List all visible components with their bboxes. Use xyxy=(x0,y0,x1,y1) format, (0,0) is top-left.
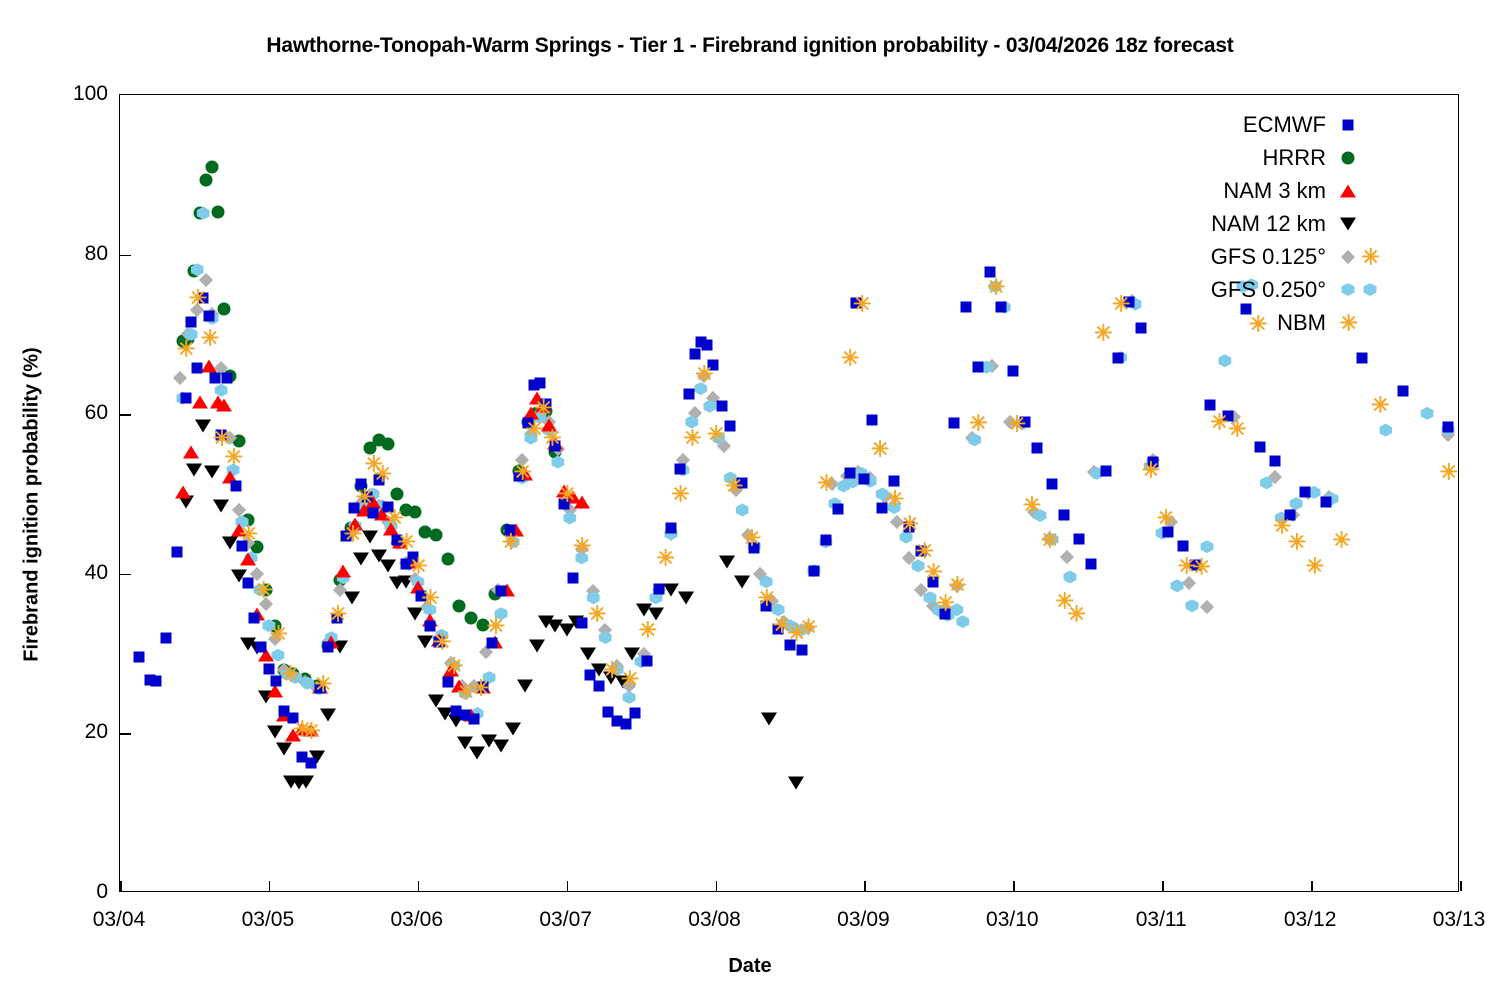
data-point: ✳ xyxy=(725,478,742,495)
y-tick-label: 80 xyxy=(85,242,108,266)
legend-item-hrrr[interactable]: HRRR xyxy=(1148,141,1388,174)
legend-label: NAM 12 km xyxy=(1211,211,1326,237)
data-point: ✳ xyxy=(886,490,903,507)
y-tick-label: 40 xyxy=(85,561,108,585)
x-tick-mark xyxy=(1162,881,1164,891)
y-tick-mark xyxy=(120,255,131,257)
legend-swatch: ✳ xyxy=(1326,308,1388,338)
data-point: ✳ xyxy=(1273,517,1290,534)
data-point: ✳ xyxy=(656,549,673,566)
diamond-icon xyxy=(1341,249,1355,263)
legend-label: GFS 0.250° xyxy=(1211,277,1326,303)
data-point: ✳ xyxy=(329,605,346,622)
data-point: ✳ xyxy=(588,605,605,622)
x-tick-label: 03/12 xyxy=(1284,908,1337,932)
hexagon-icon xyxy=(1364,283,1377,296)
x-axis-label: Date xyxy=(0,955,1500,978)
data-point: ✳ xyxy=(1440,463,1457,480)
data-point: ✳ xyxy=(457,683,474,700)
legend-swatch xyxy=(1326,110,1388,140)
data-point: ✳ xyxy=(1094,324,1111,341)
x-tick-label: 03/08 xyxy=(688,908,741,932)
legend-label: NBM xyxy=(1277,310,1326,336)
y-tick-label: 20 xyxy=(85,720,108,744)
x-tick-label: 03/13 xyxy=(1433,908,1486,932)
data-point: ✳ xyxy=(603,661,620,678)
x-tick-label: 03/09 xyxy=(837,908,890,932)
asterisk-icon: ✳ xyxy=(1340,314,1357,331)
y-tick-label: 60 xyxy=(85,401,108,425)
data-point: ✳ xyxy=(514,463,531,480)
asterisk-icon: ✳ xyxy=(1362,248,1379,265)
x-tick-label: 03/11 xyxy=(1136,908,1187,932)
legend-swatch: ✳ xyxy=(1326,242,1388,272)
data-point: ✳ xyxy=(213,430,230,447)
legend-label: HRRR xyxy=(1262,145,1326,171)
data-point: ✳ xyxy=(293,721,310,738)
data-point: ✳ xyxy=(987,278,1004,295)
data-point: ✳ xyxy=(1192,559,1209,576)
data-point: ✳ xyxy=(901,516,918,533)
data-point: ✳ xyxy=(1142,462,1159,479)
data-point: ✳ xyxy=(177,340,194,357)
legend-item-gfs-0-250[interactable]: GFS 0.250° xyxy=(1148,273,1388,306)
data-point: ✳ xyxy=(502,533,519,550)
data-point: ✳ xyxy=(707,426,724,443)
data-point: ✳ xyxy=(1332,532,1349,549)
data-point: ✳ xyxy=(817,474,834,491)
x-tick-mark xyxy=(716,881,718,891)
data-point: ✳ xyxy=(573,537,590,554)
data-point: ✳ xyxy=(948,576,965,593)
legend-label: ECMWF xyxy=(1243,112,1326,138)
y-tick-mark xyxy=(120,733,131,735)
square-icon xyxy=(1343,119,1354,130)
data-point: ✳ xyxy=(799,619,816,636)
data-point: ✳ xyxy=(534,399,551,416)
data-point: ✳ xyxy=(385,509,402,526)
data-point: ✳ xyxy=(472,679,489,696)
chart-legend: ECMWFHRRRNAM 3 kmNAM 12 kmGFS 0.125°✳GFS… xyxy=(1148,108,1388,339)
data-point: ✳ xyxy=(1210,414,1227,431)
x-tick-label: 03/04 xyxy=(93,908,146,932)
x-tick-mark xyxy=(567,881,569,891)
data-point: ✳ xyxy=(695,366,712,383)
triangle-up-icon xyxy=(1340,184,1356,197)
legend-item-nbm[interactable]: NBM✳ xyxy=(1148,306,1388,339)
x-tick-mark xyxy=(1311,881,1313,891)
x-tick-label: 03/05 xyxy=(242,908,295,932)
data-point: ✳ xyxy=(397,533,414,550)
y-tick-mark xyxy=(120,574,131,576)
y-tick-mark xyxy=(120,414,131,416)
circle-icon xyxy=(1342,151,1355,164)
data-point: ✳ xyxy=(1112,296,1129,313)
data-point: ✳ xyxy=(1067,605,1084,622)
x-tick-mark xyxy=(1013,881,1015,891)
x-tick-label: 03/07 xyxy=(539,908,592,932)
data-point: ✳ xyxy=(773,616,790,633)
data-point: ✳ xyxy=(1055,592,1072,609)
data-point: ✳ xyxy=(671,486,688,503)
legend-item-gfs-0-125[interactable]: GFS 0.125°✳ xyxy=(1148,240,1388,273)
data-point: ✳ xyxy=(916,543,933,560)
data-point: ✳ xyxy=(254,581,271,598)
data-point: ✳ xyxy=(683,430,700,447)
legend-swatch xyxy=(1326,209,1388,239)
data-point: ✳ xyxy=(1288,533,1305,550)
data-point: ✳ xyxy=(558,486,575,503)
data-point: ✳ xyxy=(924,564,941,581)
legend-swatch xyxy=(1326,275,1388,305)
data-point: ✳ xyxy=(201,330,218,347)
x-tick-mark xyxy=(1460,881,1462,891)
x-tick-mark xyxy=(269,881,271,891)
data-point: ✳ xyxy=(374,466,391,483)
data-point: ✳ xyxy=(743,529,760,546)
data-point: ✳ xyxy=(525,420,542,437)
data-point: ✳ xyxy=(871,440,888,457)
legend-label: GFS 0.125° xyxy=(1211,244,1326,270)
data-point: ✳ xyxy=(269,626,286,643)
data-point: ✳ xyxy=(487,617,504,634)
data-point: ✳ xyxy=(302,723,319,740)
x-tick-label: 03/06 xyxy=(390,908,443,932)
x-tick-mark xyxy=(864,881,866,891)
data-point: ✳ xyxy=(969,414,986,431)
data-point: ✳ xyxy=(314,675,331,692)
data-point: ✳ xyxy=(787,624,804,641)
data-point: ✳ xyxy=(639,621,656,638)
data-point: ✳ xyxy=(621,671,638,688)
data-point: ✳ xyxy=(1023,497,1040,514)
data-point: ✳ xyxy=(1228,420,1245,437)
data-point: ✳ xyxy=(421,589,438,606)
legend-item-nam-3-km[interactable]: NAM 3 km xyxy=(1148,174,1388,207)
data-point: ✳ xyxy=(543,430,560,447)
data-point: ✳ xyxy=(1178,557,1195,574)
x-tick-mark xyxy=(418,881,420,891)
chart-title: Hawthorne-Tonopah-Warm Springs - Tier 1 … xyxy=(0,34,1500,58)
data-point: ✳ xyxy=(240,525,257,542)
hexagon-icon xyxy=(1342,283,1355,296)
x-tick-mark xyxy=(120,881,122,891)
legend-label: NAM 3 km xyxy=(1223,178,1326,204)
data-point: ✳ xyxy=(1306,557,1323,574)
data-point: ✳ xyxy=(1157,509,1174,526)
data-point: ✳ xyxy=(853,296,870,313)
data-point: ✳ xyxy=(281,665,298,682)
data-point: ✳ xyxy=(758,589,775,606)
data-point: ✳ xyxy=(1371,396,1388,413)
data-point: ✳ xyxy=(1041,532,1058,549)
y-tick-label: 0 xyxy=(96,880,108,904)
data-point: ✳ xyxy=(445,657,462,674)
legend-item-ecmwf[interactable]: ECMWF xyxy=(1148,108,1388,141)
data-point: ✳ xyxy=(841,350,858,367)
data-point: ✳ xyxy=(409,557,426,574)
data-point: ✳ xyxy=(189,290,206,307)
data-point: ✳ xyxy=(936,595,953,612)
data-point: ✳ xyxy=(344,525,361,542)
legend-item-nam-12-km[interactable]: NAM 12 km xyxy=(1148,207,1388,240)
chart-figure: Hawthorne-Tonopah-Warm Springs - Tier 1 … xyxy=(0,0,1500,1000)
x-tick-label: 03/10 xyxy=(986,908,1039,932)
legend-swatch xyxy=(1326,143,1388,173)
data-point: ✳ xyxy=(356,489,373,506)
y-axis-label: Firebrand ignition probability (%) xyxy=(21,155,44,855)
data-point: ✳ xyxy=(1008,415,1025,432)
data-point: ✳ xyxy=(225,449,242,466)
data-point: ✳ xyxy=(365,455,382,472)
triangle-down-icon xyxy=(1340,217,1356,230)
y-tick-label: 100 xyxy=(73,82,108,106)
data-point: ✳ xyxy=(433,633,450,650)
legend-swatch xyxy=(1326,176,1388,206)
